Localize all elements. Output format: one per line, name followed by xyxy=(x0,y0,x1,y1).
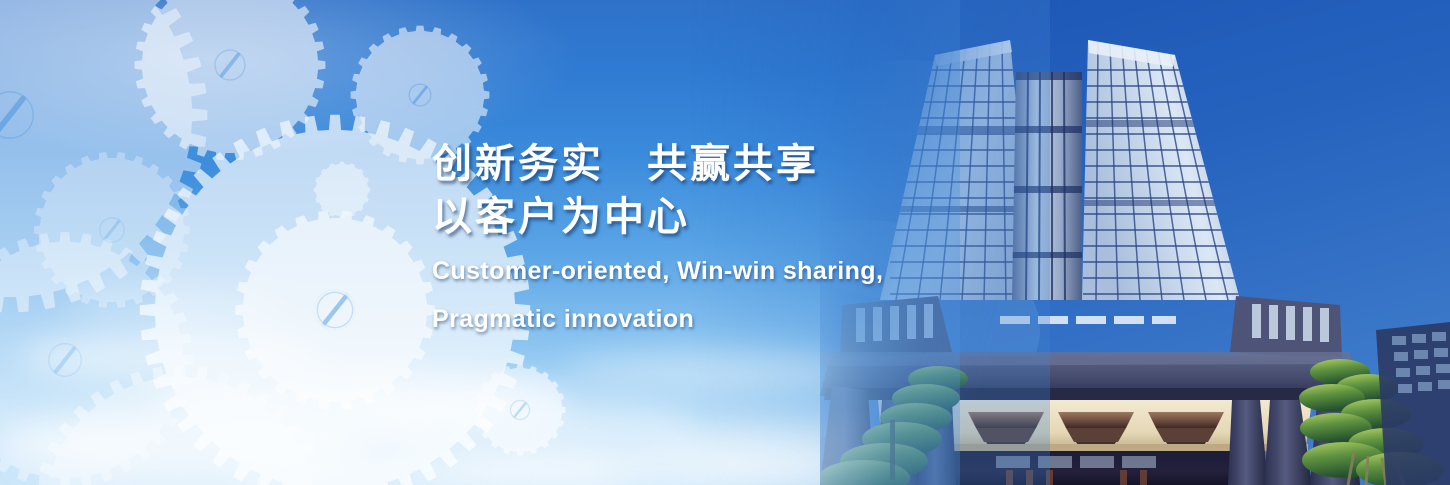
banner-copy-block: 创新务实 共赢共享 以客户为中心 Customer-oriented, Win-… xyxy=(432,138,883,340)
adjacent-facade xyxy=(1376,322,1450,485)
headline-cn-line1: 创新务实 共赢共享 xyxy=(432,138,883,191)
subhead-en-line2: Pragmatic innovation xyxy=(432,299,883,340)
corporate-hero-banner: 创新务实 共赢共享 以客户为中心 Customer-oriented, Win-… xyxy=(0,0,1450,485)
headline-cn-line2: 以客户为中心 xyxy=(432,191,883,244)
corporate-skyscraper-photo xyxy=(820,0,1450,485)
subhead-en-line1: Customer-oriented, Win-win sharing, xyxy=(432,251,883,292)
